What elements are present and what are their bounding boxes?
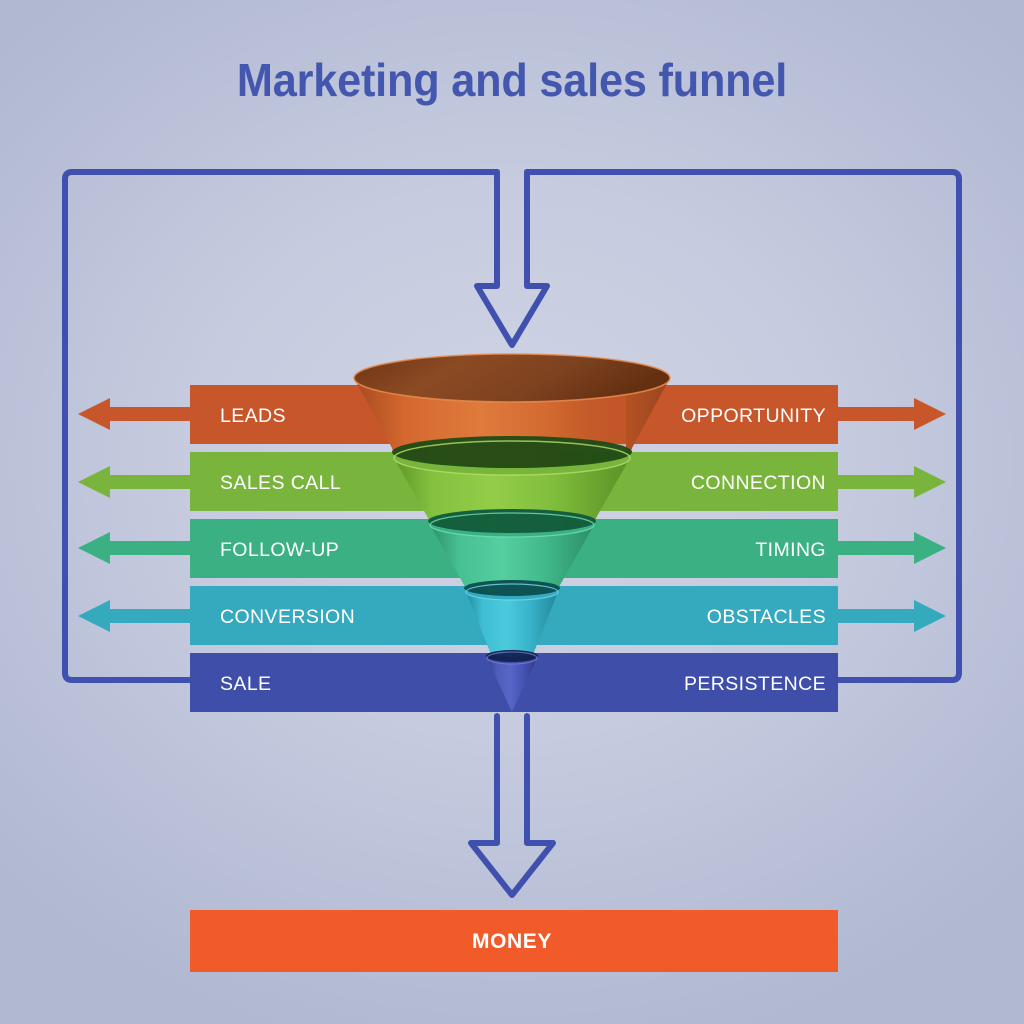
- stage-label-right-timing: TIMING: [755, 541, 826, 561]
- stage-arrows-right: [828, 398, 946, 632]
- stage-label-left-sale: SALE: [220, 675, 271, 695]
- stage-label-left-leads: LEADS: [220, 407, 286, 427]
- stage-arrows-left: [78, 398, 196, 632]
- arrow-down-icon-outflow: [471, 716, 553, 895]
- arrow-down-icon-inflow: [477, 172, 547, 345]
- stage-label-right-obstacles: OBSTACLES: [707, 608, 826, 628]
- outcome-label-money: MONEY: [0, 931, 1024, 952]
- funnel-graphics: [0, 0, 1024, 1024]
- funnel-diagram-canvas: Marketing and sales funnel: [0, 0, 1024, 1024]
- stage-label-left-sales-call: SALES CALL: [220, 474, 341, 494]
- stage-label-right-persistence: PERSISTENCE: [684, 675, 826, 695]
- stage-label-right-connection: CONNECTION: [691, 474, 826, 494]
- stage-label-right-opportunity: OPPORTUNITY: [681, 407, 826, 427]
- stage-label-left-conversion: CONVERSION: [220, 608, 355, 628]
- stage-label-left-follow-up: FOLLOW-UP: [220, 541, 339, 561]
